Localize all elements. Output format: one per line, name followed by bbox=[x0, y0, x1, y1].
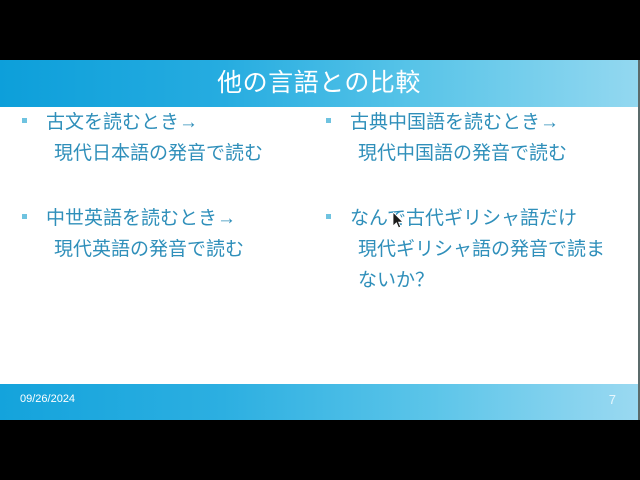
slide-title-bar: 他の言語との比較 bbox=[0, 60, 638, 107]
slide-body: 古文を読むとき→ 現代日本語の発音で読む 中世英語を読むとき→ 現代英語の発音で… bbox=[0, 107, 638, 374]
slide-title: 他の言語との比較 bbox=[0, 60, 638, 107]
bullet-line: ないか？ bbox=[350, 265, 620, 296]
letterbox-top-bar bbox=[0, 0, 640, 60]
bullet-square-icon bbox=[22, 214, 27, 219]
bullet-line: 古文を読むとき→ bbox=[46, 107, 316, 138]
bullet-line: 現代日本語の発音で読む bbox=[46, 138, 316, 169]
bullet-line: 現代中国語の発音で読む bbox=[350, 138, 620, 169]
footer-date: 09/26/2024 bbox=[20, 393, 75, 405]
bullet-item: 古典中国語を読むとき→ 現代中国語の発音で読む bbox=[320, 107, 620, 169]
slide-number: 7 bbox=[609, 392, 616, 407]
bullet-line: 中世英語を読むとき→ bbox=[46, 203, 316, 234]
bullet-item: 中世英語を読むとき→ 現代英語の発音で読む bbox=[16, 203, 316, 265]
bullet-square-icon bbox=[22, 118, 27, 123]
slide[interactable]: 他の言語との比較 古文を読むとき→ 現代日本語の発音で読む 中世英語を読むとき→… bbox=[0, 60, 640, 420]
bullet-line: 現代英語の発音で読む bbox=[46, 234, 316, 265]
bullet-line: 現代ギリシャ語の発音で読ま bbox=[350, 234, 620, 265]
presentation-viewer[interactable]: 他の言語との比較 古文を読むとき→ 現代日本語の発音で読む 中世英語を読むとき→… bbox=[0, 0, 640, 480]
right-column: 古典中国語を読むとき→ 現代中国語の発音で読む なんで古代ギリシャ語だけ 現代ギ… bbox=[320, 107, 620, 330]
bullet-line: なんで古代ギリシャ語だけ bbox=[350, 203, 620, 234]
letterbox-bottom-bar bbox=[0, 420, 640, 480]
bullet-line: 古典中国語を読むとき→ bbox=[350, 107, 620, 138]
left-column: 古文を読むとき→ 現代日本語の発音で読む 中世英語を読むとき→ 現代英語の発音で… bbox=[16, 107, 316, 299]
bullet-square-icon bbox=[326, 214, 331, 219]
slide-footer-bar: 09/26/2024 7 bbox=[0, 384, 638, 420]
bullet-item: なんで古代ギリシャ語だけ 現代ギリシャ語の発音で読ま ないか？ bbox=[320, 203, 620, 296]
bullet-item: 古文を読むとき→ 現代日本語の発音で読む bbox=[16, 107, 316, 169]
bullet-square-icon bbox=[326, 118, 331, 123]
